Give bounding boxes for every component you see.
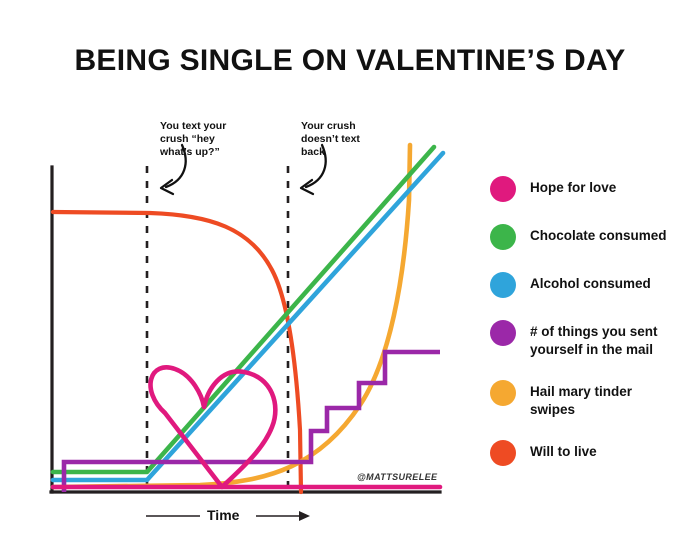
legend-swatch-icon (490, 320, 516, 346)
legend-item-label: Hope for love (530, 176, 616, 197)
time-arrowhead-icon (299, 511, 310, 521)
legend-item-mail-to-self[interactable]: # of things you sent yourself in the mai… (490, 320, 695, 358)
legend-item-label: # of things you sent yourself in the mai… (530, 320, 658, 358)
x-axis-label: Time (207, 507, 239, 523)
legend-swatch-icon (490, 176, 516, 202)
legend-item-label: Chocolate consumed (530, 224, 667, 245)
infographic-page: BEING SINGLE ON VALENTINE’S DAY (0, 0, 700, 560)
legend-item-alcohol-consumed[interactable]: Alcohol consumed (490, 272, 695, 298)
annotation-text-no-reply: Your crush doesn’t text back (301, 120, 377, 158)
series-heart-hope-for-love (151, 367, 276, 487)
chart-legend: Hope for love Chocolate consumed Alcohol… (490, 176, 695, 488)
legend-item-label: Will to live (530, 440, 597, 461)
legend-item-hope-for-love[interactable]: Hope for love (490, 176, 695, 202)
annotation-text-first-text: You text your crush “hey what’s up?” (160, 120, 240, 158)
series-line-chocolate-consumed (53, 147, 434, 472)
legend-item-tinder-swipes[interactable]: Hail mary tinder swipes (490, 380, 695, 418)
legend-swatch-icon (490, 440, 516, 466)
legend-item-chocolate-consumed[interactable]: Chocolate consumed (490, 224, 695, 250)
legend-swatch-icon (490, 272, 516, 298)
series-line-tinder-swipes (53, 145, 410, 487)
legend-item-will-to-live[interactable]: Will to live (490, 440, 695, 466)
legend-item-label: Hail mary tinder swipes (530, 380, 632, 418)
legend-swatch-icon (490, 380, 516, 406)
legend-item-label: Alcohol consumed (530, 272, 651, 293)
legend-swatch-icon (490, 224, 516, 250)
watermark-credit: @MATTSURELEE (357, 472, 437, 482)
